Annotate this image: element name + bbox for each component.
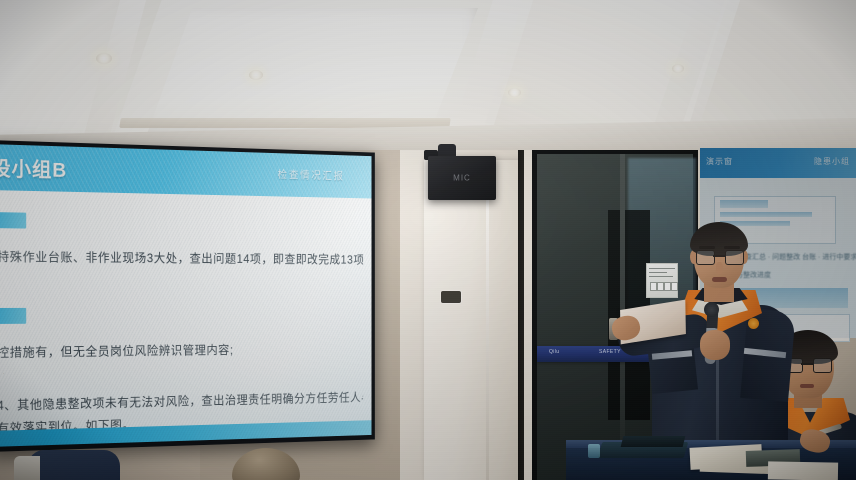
door-band-logo-2: SAFETY (599, 349, 621, 355)
projection-screen: 设小组B 检查情况汇报 特殊作业台账、非作业现场3大处，查出问题14项，即查即改… (0, 144, 371, 447)
downlight-icon-2 (249, 70, 263, 80)
desk-equipment[interactable] (621, 436, 686, 447)
presenter-mouth (712, 277, 727, 282)
presenter-brow-left (699, 246, 715, 249)
slide-text-line-2: 控措施有，但无全员岗位风险辨识管理内容; (0, 338, 363, 360)
downlight-icon-3 (508, 88, 521, 97)
microphone-head-icon (704, 302, 719, 317)
wall-outlet[interactable] (441, 291, 461, 303)
conference-room-screenshot: 设小组B 检查情况汇报 特殊作业台账、非作业现场3大处，查出问题14项，即查即改… (0, 0, 856, 480)
slide-title: 设小组B (0, 152, 67, 183)
door-band-logo-1: Qilu (549, 349, 560, 355)
speaker-label: MIC (453, 174, 471, 183)
desk-loose-papers[interactable] (768, 461, 838, 480)
secondary-display-header: 演示窗 隐患小组 (700, 148, 856, 178)
presenter-right-hand (700, 330, 730, 360)
downlight-icon-4 (672, 64, 684, 73)
slide-text-line-1: 特殊作业台账、非作业现场3大处，查出问题14项，即查即改完成13项。 (0, 246, 363, 267)
slide-body: 特殊作业台账、非作业现场3大处，查出问题14项，即查即改完成13项。 控措施有，… (0, 190, 371, 447)
projection-screen-frame: 设小组B 检查情况汇报 特殊作业台账、非作业现场3大处，查出问题14项，即查即改… (0, 140, 375, 452)
foreground-chair-arm (14, 456, 40, 480)
speaker-mount (438, 144, 456, 156)
bullet-mark-icon-1 (0, 212, 26, 229)
secondary-bar-1 (720, 200, 768, 208)
presenter-brow-right (724, 246, 740, 249)
slide-subtitle: 检查情况汇报 (278, 166, 345, 183)
secondary-display-title-left: 演示窗 (706, 156, 733, 167)
desk-water-glass[interactable] (588, 444, 600, 458)
door-notice-sheet (646, 263, 678, 298)
presenter-nose (716, 262, 723, 274)
seated-mouth (800, 384, 814, 388)
secondary-bar-2 (720, 212, 812, 217)
ceiling-cove-strip (119, 118, 451, 128)
downlight-icon-1 (96, 53, 112, 64)
wall-speaker-box: MIC (428, 156, 496, 200)
slide-header: 设小组B 检查情况汇报 (0, 144, 371, 198)
bullet-mark-icon-2 (0, 308, 26, 324)
presenter-jacket-emblem (748, 318, 759, 329)
secondary-display-title-right: 隐患小组 (814, 156, 850, 167)
foreground-chair-back (28, 450, 120, 480)
wall-column-crease (486, 160, 489, 480)
